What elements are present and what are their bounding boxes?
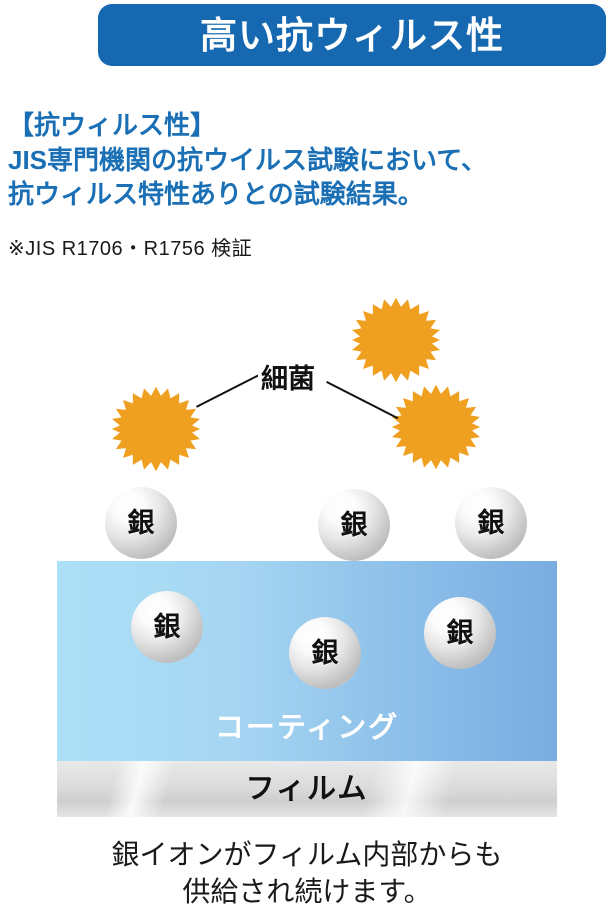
silver-ion-label: 銀	[478, 510, 505, 537]
coating-label: コーティング	[57, 714, 557, 743]
bacteria-burst-icon	[352, 296, 440, 384]
bottom-caption: 銀イオンがフィルム内部からも 供給され続けます。	[0, 836, 614, 910]
silver-ion-sphere: 銀	[318, 489, 390, 561]
silver-ion-sphere: 銀	[131, 591, 203, 663]
silver-ion-sphere: 銀	[424, 597, 496, 669]
film-layer: フィルム	[57, 761, 557, 817]
silver-ion-sphere: 銀	[289, 617, 361, 689]
silver-ion-sphere: 銀	[455, 487, 527, 559]
bacteria-label: 細菌	[258, 364, 318, 395]
header-banner: 高い抗ウィルス性	[98, 4, 606, 66]
intro-text-block: 【抗ウィルス性】 JIS専門機関の抗ウイルス試験において、 抗ウィルス特性ありと…	[8, 108, 608, 212]
page-title: 高い抗ウィルス性	[200, 17, 504, 54]
silver-ion-sphere: 銀	[105, 487, 177, 559]
bacteria-burst-icon	[392, 383, 480, 471]
intro-line-1: 【抗ウィルス性】	[8, 108, 608, 143]
silver-ion-label: 銀	[447, 620, 474, 647]
film-label: フィルム	[246, 775, 369, 804]
silver-ion-label: 銀	[341, 512, 368, 539]
leader-line-right	[326, 381, 398, 419]
silver-ion-label: 銀	[154, 614, 181, 641]
silver-ion-label: 銀	[128, 510, 155, 537]
silver-ion-label: 銀	[312, 640, 339, 667]
leader-line-left	[196, 371, 265, 407]
intro-line-3: 抗ウィルス特性ありとの試験結果。	[8, 177, 608, 212]
caption-line-2: 供給され続けます。	[0, 873, 614, 910]
caption-line-1: 銀イオンがフィルム内部からも	[0, 836, 614, 873]
bacteria-burst-icon	[112, 385, 200, 473]
footnote-standards: ※JIS R1706・R1756 検証	[8, 232, 252, 261]
intro-line-2: JIS専門機関の抗ウイルス試験において、	[8, 143, 608, 178]
